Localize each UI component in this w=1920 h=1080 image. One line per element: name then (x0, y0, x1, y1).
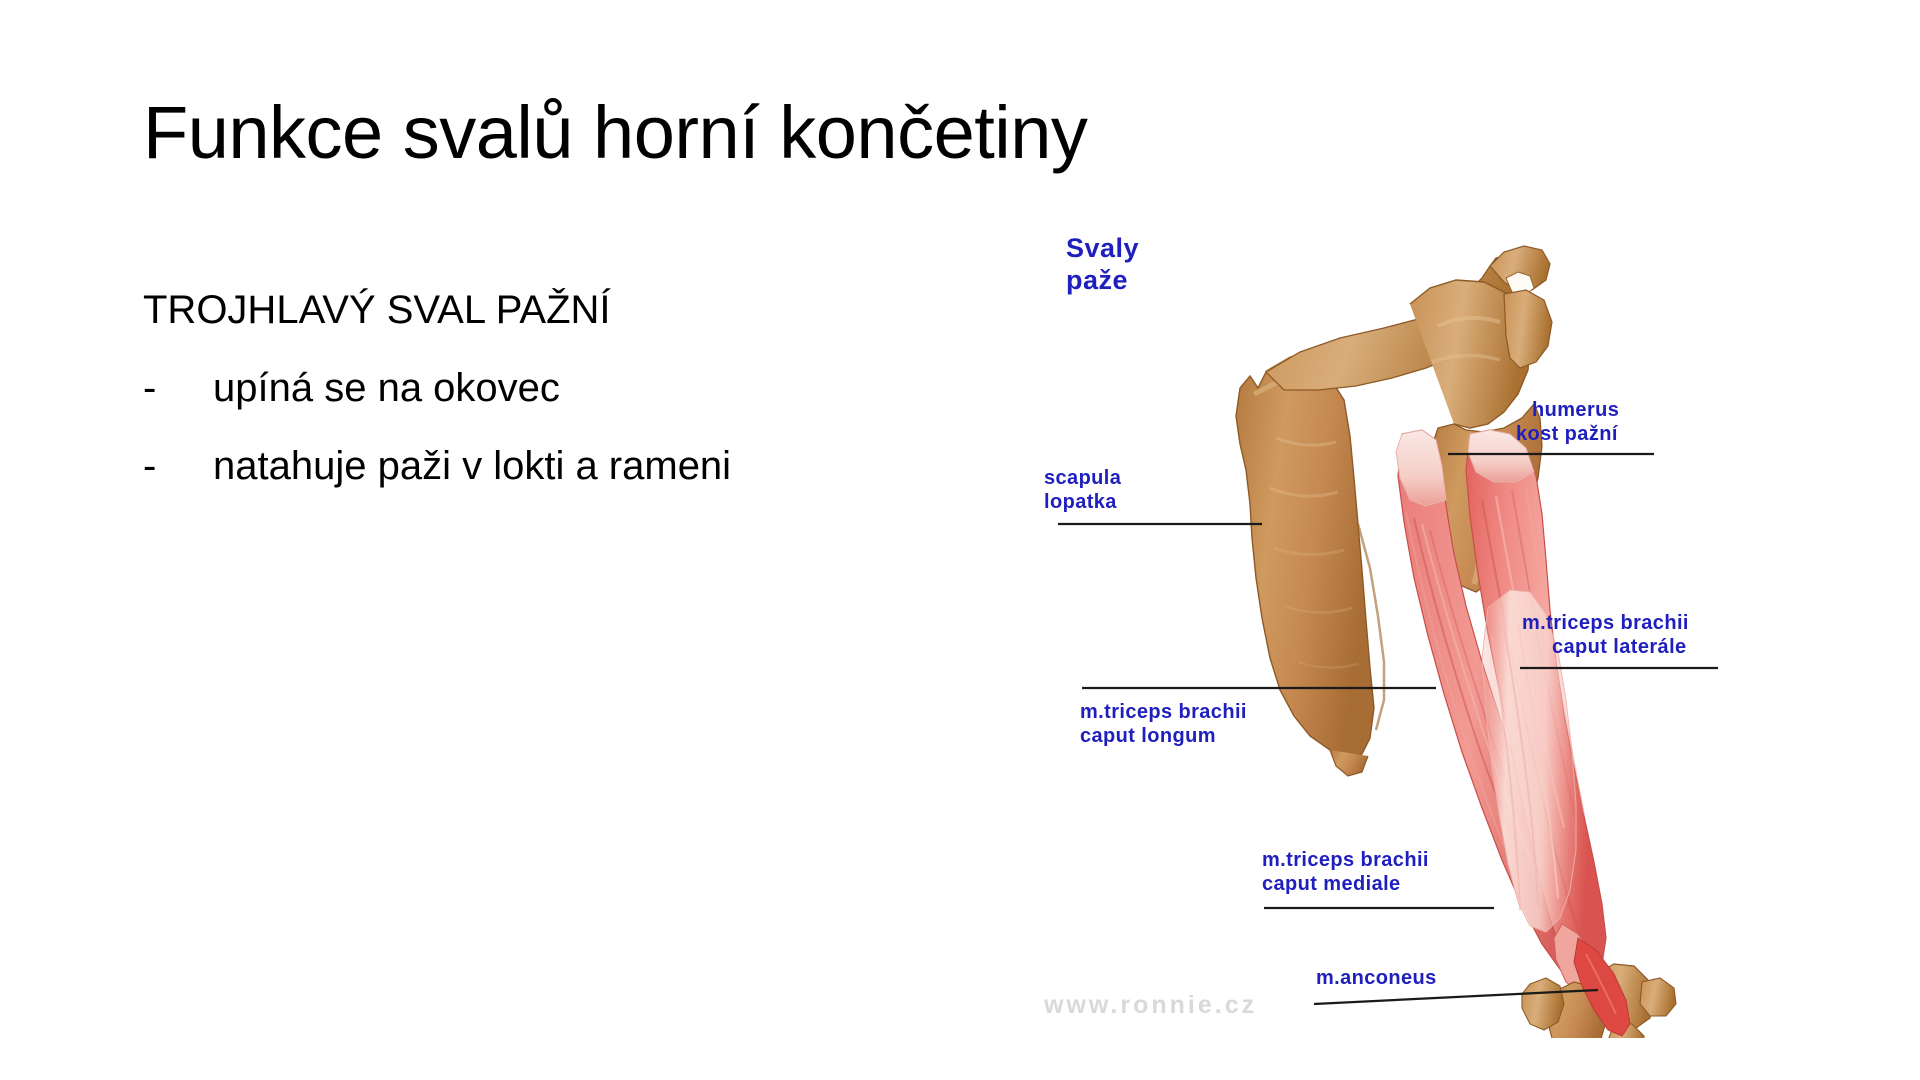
body-heading: TROJHLAVÝ SVAL PAŽNÍ (143, 290, 973, 330)
anatomy-illustration: Svaly paže scapula lopatka humerus kost … (1018, 238, 1898, 1038)
label-humerus-line1: humerus (1532, 398, 1619, 422)
bullet-text: upíná se na okovec (213, 368, 973, 408)
bullet-marker: - (143, 446, 213, 486)
list-item: - natahuje paži v lokti a rameni (143, 446, 973, 486)
label-triceps-longum-line2: caput longum (1080, 724, 1216, 748)
page-title: Funkce svalů horní končetiny (143, 96, 1543, 170)
bullet-marker: - (143, 368, 213, 408)
label-triceps-mediale-line1: m.triceps brachii (1262, 848, 1429, 872)
label-triceps-laterale-line2: caput laterále (1552, 635, 1687, 659)
label-triceps-mediale-line2: caput mediale (1262, 872, 1401, 896)
arm-muscles-diagram (1018, 238, 1898, 1038)
body-text-block: TROJHLAVÝ SVAL PAŽNÍ - upíná se na okove… (143, 290, 973, 524)
label-triceps-laterale-line1: m.triceps brachii (1522, 611, 1689, 635)
bullet-text: natahuje paži v lokti a rameni (213, 446, 973, 486)
label-scapula-line2: lopatka (1044, 490, 1117, 514)
figure-caption-line1: Svaly (1066, 232, 1139, 265)
figure-caption-line2: paže (1066, 264, 1128, 297)
label-anconeus: m.anconeus (1316, 966, 1437, 990)
watermark-text: www.ronnie.cz (1044, 990, 1257, 1021)
label-triceps-longum-line1: m.triceps brachii (1080, 700, 1247, 724)
label-humerus-line2: kost pažní (1516, 422, 1618, 446)
slide-canvas: Funkce svalů horní končetiny TROJHLAVÝ S… (0, 0, 1920, 1080)
label-scapula-line1: scapula (1044, 466, 1121, 490)
list-item: - upíná se na okovec (143, 368, 973, 408)
